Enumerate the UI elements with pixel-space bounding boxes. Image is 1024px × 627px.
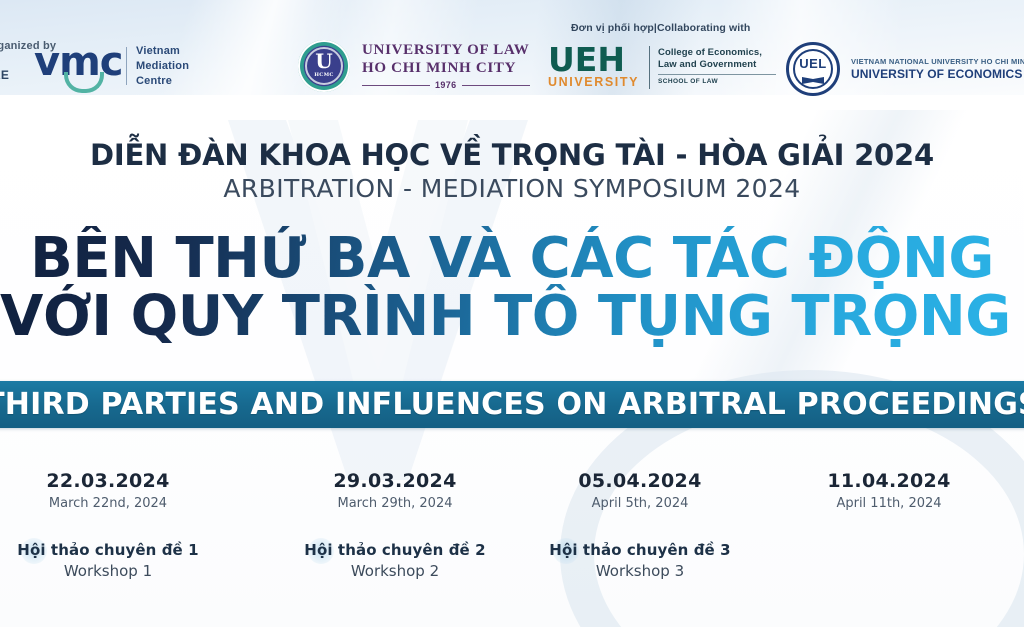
timeline-item-1[interactable]: 22.03.2024 March 22nd, 2024 Hội thảo chu… (0, 470, 223, 580)
vmc-name-line-2: Mediation (136, 59, 189, 74)
ul-year-row: 1976 (362, 80, 529, 90)
event-poster: organized by RE Đơn vị phối hợp|Collabor… (0, 0, 1024, 627)
sponsor-logo-header: organized by RE Đơn vị phối hợp|Collabor… (0, 0, 1024, 118)
uel-book-icon (802, 77, 824, 84)
seal-sub: HCMC (298, 73, 350, 78)
uel-name-block: VIETNAM NATIONAL UNIVERSITY HO CHI MINH … (851, 57, 1024, 81)
uel-name-line-2: UNIVERSITY OF ECONOMICS AND LAW (851, 67, 1024, 81)
timeline-label-english: Workshop 1 (0, 562, 223, 580)
timeline-label-english: Workshop 3 (525, 562, 755, 580)
ul-name-line-2: HO CHI MINH CITY (362, 60, 529, 77)
vmc-wordmark-icon: vmc (34, 44, 120, 88)
vmc-name-block: Vietnam Mediation Centre (136, 44, 189, 89)
vmc-smile-icon (64, 72, 104, 93)
ueh-wordmark-icon: UEH UNIVERSITY (548, 44, 639, 89)
timeline-label-vietnamese: Hội thảo chuyên đề 1 (0, 541, 223, 559)
timeline-date: 29.03.2024 (280, 470, 510, 492)
ul-name-line-1: UNIVERSITY OF LAW (362, 42, 529, 59)
english-title-banner: THIRD PARTIES AND INFLUENCES ON ARBITRAL… (0, 381, 1024, 428)
ueh-desc-line-3: SCHOOL OF LAW (658, 78, 776, 85)
timeline-date: 11.04.2024 (774, 470, 1004, 492)
subtitle-english: ARBITRATION - MEDIATION SYMPOSIUM 2024 (0, 174, 1024, 203)
vmc-name-line-1: Vietnam (136, 44, 189, 59)
vmc-divider (126, 47, 127, 85)
timeline-date-english: April 11th, 2024 (774, 496, 1004, 511)
timeline-label-english: Workshop 2 (280, 562, 510, 580)
logo-vmc: vmc Vietnam Mediation Centre (34, 44, 189, 89)
headline-line-2: VỚI QUY TRÌNH TỐ TỤNG TRỌNG TÀI (0, 284, 1024, 349)
timeline-date-english: March 29th, 2024 (280, 496, 510, 511)
ueh-mark-text: UEH (548, 44, 639, 75)
left-cut-label: RE (0, 68, 9, 82)
timeline-date-english: April 5th, 2024 (525, 496, 755, 511)
event-timeline: 22.03.2024 March 22nd, 2024 Hội thảo chu… (0, 470, 1024, 627)
university-of-law-seal-icon: U HCMC (298, 40, 350, 92)
ul-year-rule-right (462, 85, 530, 86)
subtitle-vietnamese: DIỄN ĐÀN KHOA HỌC VỀ TRỌNG TÀI - HÒA GIẢ… (0, 138, 1024, 172)
timeline-item-2[interactable]: 29.03.2024 March 29th, 2024 Hội thảo chu… (280, 470, 510, 580)
collaborating-with-label: Đơn vị phối hợp|Collaborating with (571, 22, 750, 34)
university-of-law-name-block: UNIVERSITY OF LAW HO CHI MINH CITY 1976 (362, 42, 529, 90)
vmc-name-line-3: Centre (136, 74, 189, 89)
logo-university-of-law: U HCMC UNIVERSITY OF LAW HO CHI MINH CIT… (298, 40, 529, 92)
seal-initials: U HCMC (298, 51, 350, 78)
uel-seal-icon: UEL (786, 42, 840, 96)
logo-ueh: UEH UNIVERSITY College of Economics, Law… (548, 44, 776, 89)
timeline-date: 22.03.2024 (0, 470, 223, 492)
timeline-label-wrap: Hội thảo chuyên đề 3 Workshop 3 (525, 541, 755, 580)
timeline-date: 05.04.2024 (525, 470, 755, 492)
headline-line-1: BÊN THỨ BA VÀ CÁC TÁC ĐỘNG (0, 226, 1024, 291)
logo-uel: UEL VIETNAM NATIONAL UNIVERSITY HO CHI M… (786, 42, 1024, 96)
ueh-desc-line-2: Law and Government (658, 59, 776, 71)
timeline-item-3[interactable]: 05.04.2024 April 5th, 2024 Hội thảo chuy… (525, 470, 755, 580)
timeline-label-wrap: Hội thảo chuyên đề 2 Workshop 2 (280, 541, 510, 580)
ueh-divider (649, 46, 650, 89)
ul-year-rule-left (362, 85, 430, 86)
ueh-name-block: College of Economics, Law and Government… (658, 44, 776, 85)
ueh-desc-line-1: College of Economics, (658, 47, 776, 59)
timeline-date-english: March 22nd, 2024 (0, 496, 223, 511)
banner-text: THIRD PARTIES AND INFLUENCES ON ARBITRAL… (0, 387, 1024, 422)
ul-founding-year: 1976 (430, 80, 462, 90)
timeline-label-wrap: Hội thảo chuyên đề 1 Workshop 1 (0, 541, 223, 580)
timeline-item-4[interactable]: 11.04.2024 April 11th, 2024 (774, 470, 1004, 511)
uel-name-line-1: VIETNAM NATIONAL UNIVERSITY HO CHI MINH … (851, 57, 1024, 66)
timeline-label-vietnamese: Hội thảo chuyên đề 2 (280, 541, 510, 559)
ueh-rule (658, 74, 776, 75)
timeline-label-vietnamese: Hội thảo chuyên đề 3 (525, 541, 755, 559)
uel-seal-initials: UEL (789, 57, 837, 70)
ueh-mark-sub: UNIVERSITY (548, 76, 639, 89)
